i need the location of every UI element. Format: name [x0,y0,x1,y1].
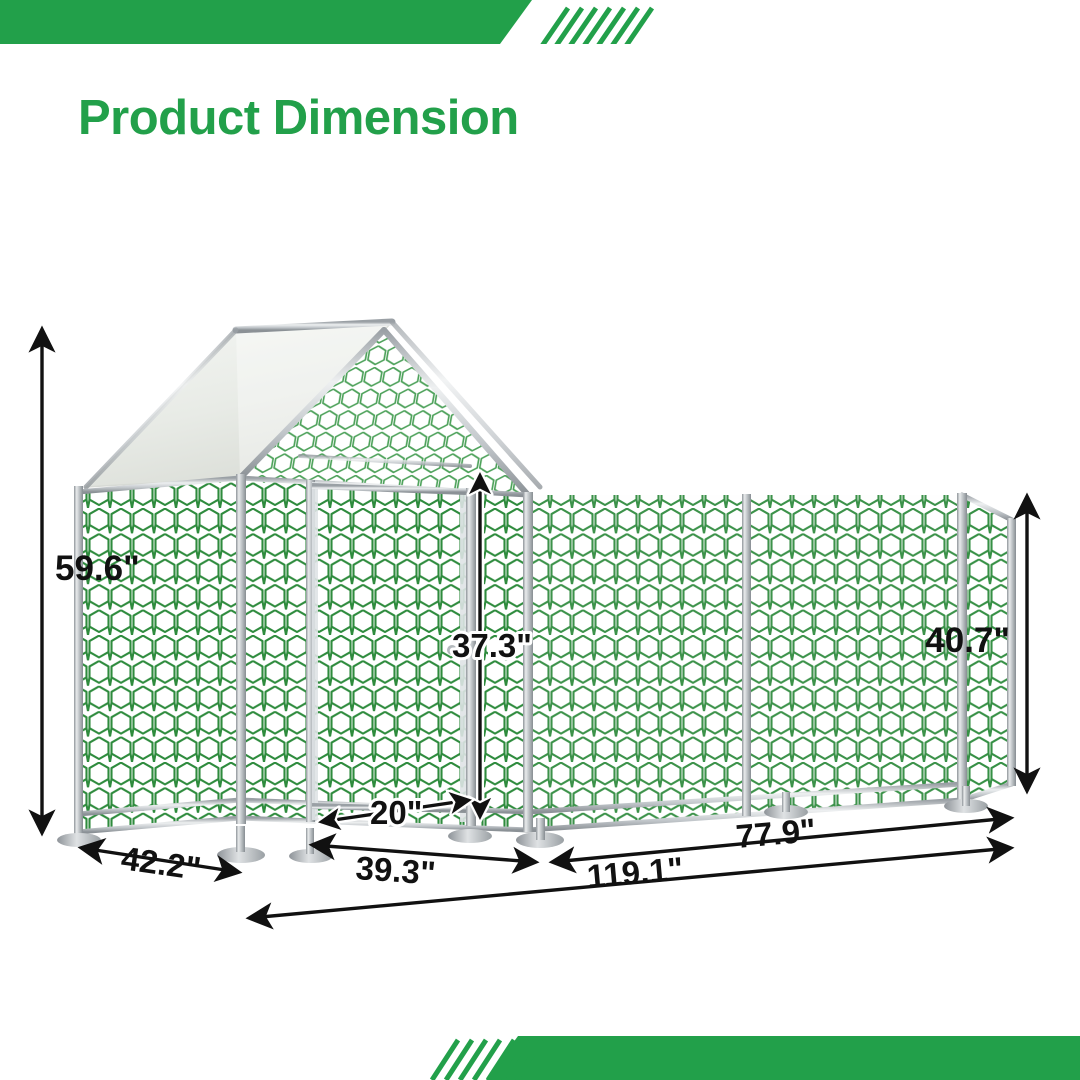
dim-label-overall-height: 59.6" [55,549,140,588]
dim-label-depth: 42.2" [119,839,203,887]
dim-label-door-height: 37.3" [452,627,532,664]
dim-label-side-height: 40.7" [925,621,1010,660]
dim-label-run-length: 77.9" [734,811,817,855]
infographic-canvas: Product Dimension [0,0,1080,1080]
dim-label-door-width: 20" [370,794,422,831]
dimension-annotations: 59.6" 40.7" 37.3" 20" 42.2" 39.3" 77.9" … [0,0,1080,1080]
dim-label-overall-length: 119.1" [585,850,684,895]
dim-label-coop-length: 39.3" [355,849,437,891]
